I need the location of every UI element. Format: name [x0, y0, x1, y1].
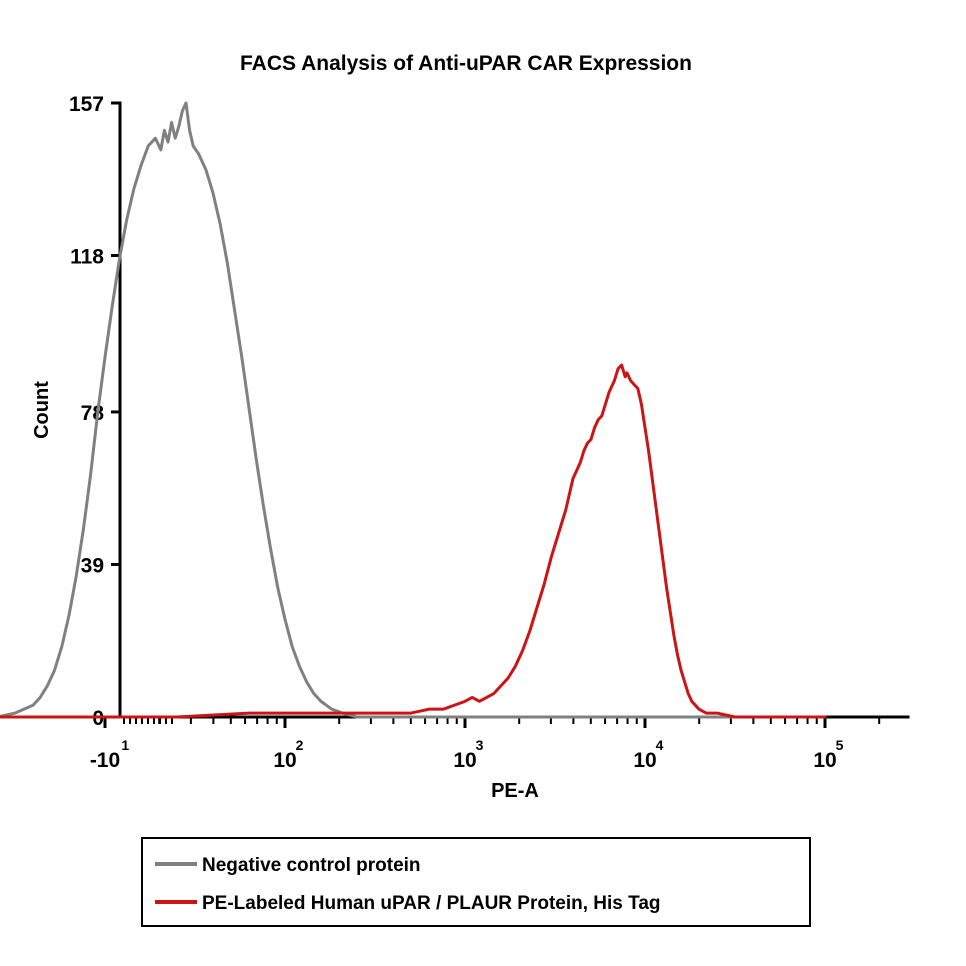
x-axis-label: PE-A: [491, 780, 539, 802]
x-tick-label-exponent: 1: [121, 737, 129, 753]
y-tick-label: 157: [69, 93, 104, 116]
chart-canvas: FACS Analysis of Anti-uPAR CAR Expressio…: [0, 0, 966, 966]
x-tick-label-mantissa: 10: [273, 749, 296, 772]
x-tick-label-exponent: 4: [656, 737, 664, 753]
y-tick-label: 39: [81, 554, 104, 577]
chart-title: FACS Analysis of Anti-uPAR CAR Expressio…: [240, 52, 692, 75]
chart-legend: Negative control proteinPE-Labeled Human…: [142, 838, 810, 926]
legend-label-0: Negative control protein: [202, 855, 421, 876]
x-tick-label-mantissa: 10: [633, 749, 656, 772]
x-tick-label-mantissa: 10: [813, 749, 836, 772]
facs-histogram-figure: FACS Analysis of Anti-uPAR CAR Expressio…: [0, 0, 966, 966]
x-tick-label-exponent: 5: [836, 737, 844, 753]
x-tick-label-mantissa: -10: [90, 749, 120, 772]
y-tick-label: 118: [70, 246, 104, 269]
chart-background: [0, 0, 966, 966]
legend-label-1: PE-Labeled Human uPAR / PLAUR Protein, H…: [202, 893, 661, 914]
x-tick-label-exponent: 2: [296, 737, 304, 753]
x-tick-label-mantissa: 10: [453, 749, 476, 772]
y-axis-label: Count: [31, 381, 53, 439]
x-tick-label-exponent: 3: [476, 737, 484, 753]
y-tick-label: 78: [81, 402, 105, 425]
